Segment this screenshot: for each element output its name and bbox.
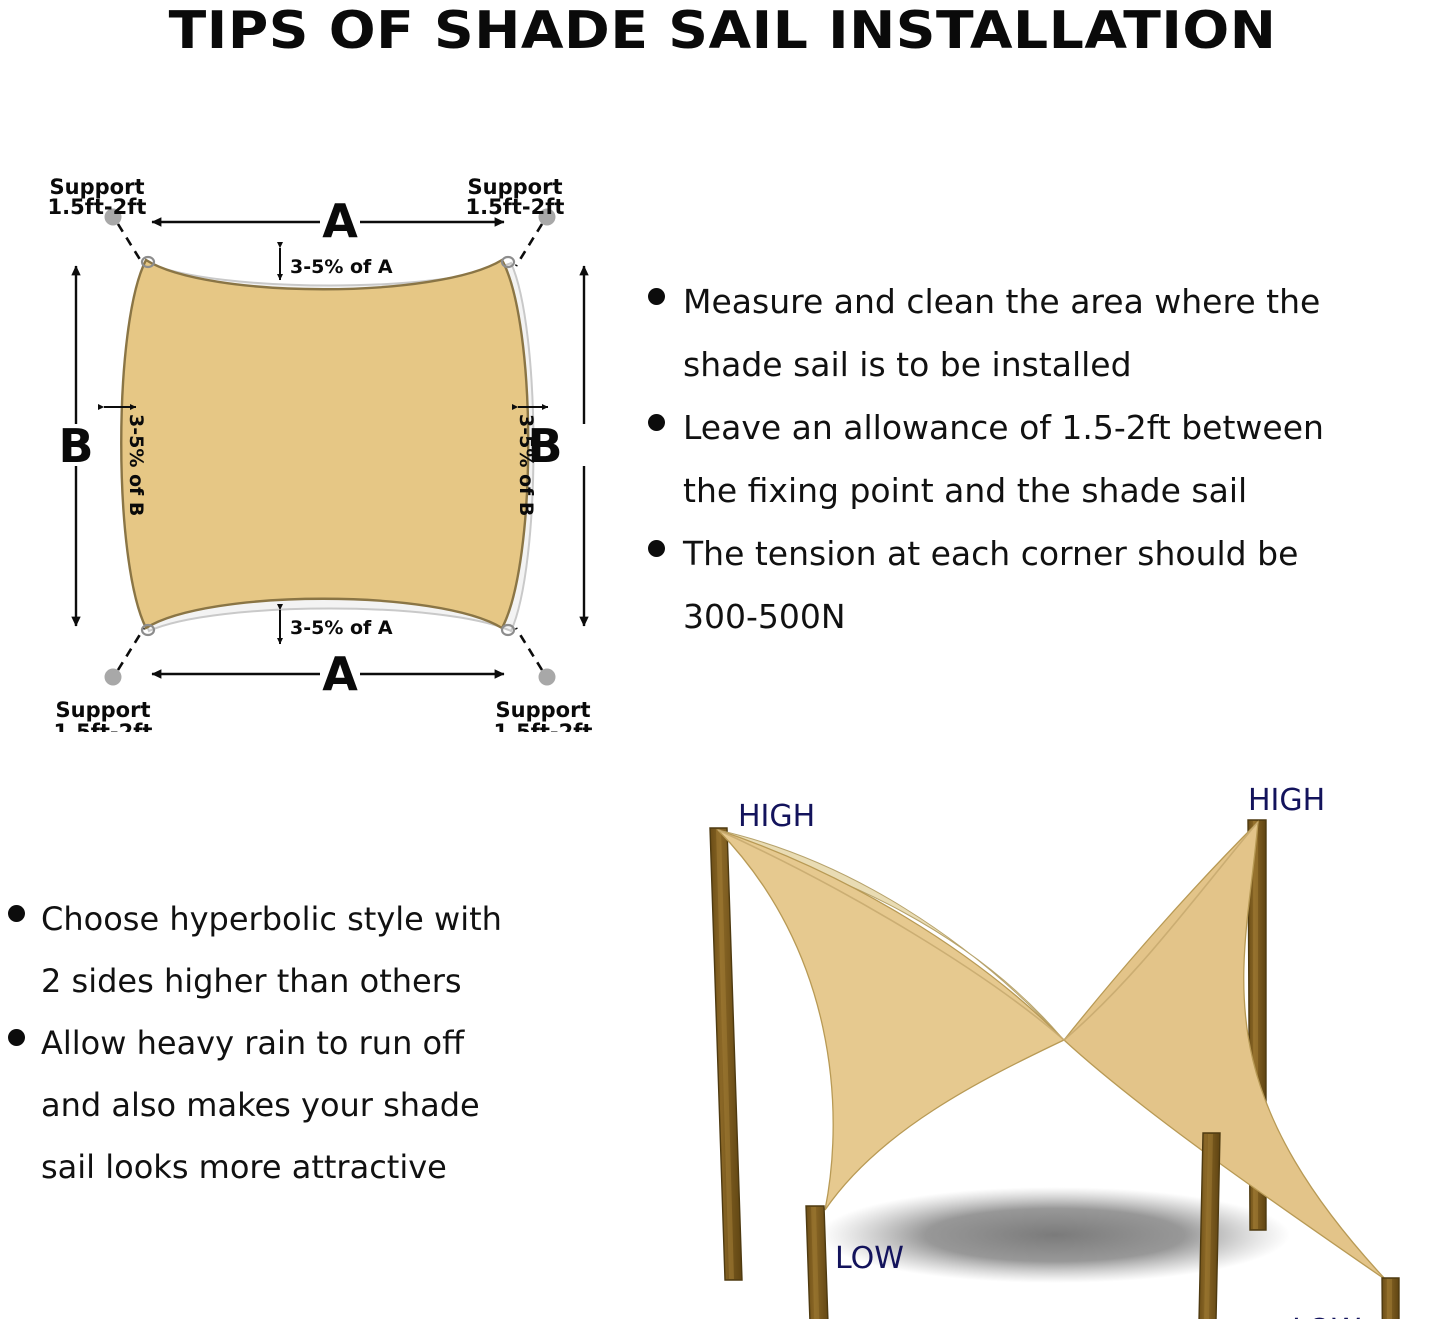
list-item: Measure and clean the area where the bbox=[648, 270, 1445, 333]
list-item-continuation: sail looks more attractive bbox=[8, 1136, 638, 1198]
tip-text: the fixing point and the shade sail bbox=[683, 459, 1247, 522]
support-dot-bottom-right bbox=[539, 669, 556, 686]
list-item: Leave an allowance of 1.5-2ft between bbox=[648, 396, 1445, 459]
label-dimension-top: A bbox=[322, 194, 358, 248]
tips-list-bottom: Choose hyperbolic style with 2 sides hig… bbox=[8, 888, 638, 1198]
list-item: Allow heavy rain to run off bbox=[8, 1012, 638, 1074]
list-item-continuation: 2 sides higher than others bbox=[8, 950, 638, 1012]
bullet-dot-icon bbox=[8, 1029, 25, 1046]
label-curvature-left: 3-5% of B bbox=[125, 414, 147, 516]
label-dimension-bottom: A bbox=[322, 647, 358, 701]
list-item-continuation: the fixing point and the shade sail bbox=[648, 459, 1445, 522]
square-sail-diagram: A 3-5% of A A 3-5% of A B bbox=[40, 162, 620, 732]
tip-text: 300-500N bbox=[683, 585, 846, 648]
tether-top-left bbox=[118, 224, 144, 266]
tip-text: and also makes your shade bbox=[41, 1074, 480, 1136]
list-item-continuation: 300-500N bbox=[648, 585, 1445, 648]
sail-body bbox=[121, 260, 528, 628]
list-item: Choose hyperbolic style with bbox=[8, 888, 638, 950]
sail-lobe-left bbox=[718, 830, 1064, 1210]
support-label-bottom-left-line1: Support bbox=[56, 698, 151, 722]
tip-text: shade sail is to be installed bbox=[683, 333, 1132, 396]
list-item: The tension at each corner should be bbox=[648, 522, 1445, 585]
label-curvature-top: 3-5% of A bbox=[290, 256, 393, 278]
bullet-dot-icon bbox=[648, 288, 665, 305]
list-item-continuation: and also makes your shade bbox=[8, 1074, 638, 1136]
bottom-section: Choose hyperbolic style with 2 sides hig… bbox=[0, 760, 1445, 1319]
top-section: A 3-5% of A A 3-5% of A B bbox=[0, 62, 1445, 752]
label-high-left: HIGH bbox=[738, 799, 815, 834]
bullet-dot-icon bbox=[648, 540, 665, 557]
list-item-continuation: shade sail is to be installed bbox=[648, 333, 1445, 396]
tip-text: Allow heavy rain to run off bbox=[41, 1012, 464, 1074]
tether-bottom-left bbox=[118, 628, 144, 670]
tether-bottom-right bbox=[516, 628, 542, 670]
label-high-right: HIGH bbox=[1248, 783, 1325, 818]
page-header: TIPS OF SHADE SAIL INSTALLATION bbox=[0, 0, 1445, 62]
tip-text: 2 sides higher than others bbox=[41, 950, 462, 1012]
tip-text: The tension at each corner should be bbox=[683, 522, 1298, 585]
tip-text: Leave an allowance of 1.5-2ft between bbox=[683, 396, 1324, 459]
pole-low-left bbox=[806, 1206, 830, 1319]
support-label-bottom-right-line1: Support bbox=[496, 698, 591, 722]
hyperbolic-sail-diagram: HIGH HIGH LOW LOW bbox=[670, 780, 1445, 1319]
pole-low-right bbox=[1382, 1278, 1399, 1319]
tip-text: Measure and clean the area where the bbox=[683, 270, 1320, 333]
tip-text: Choose hyperbolic style with bbox=[41, 888, 502, 950]
support-label-top-left-line2: 1.5ft-2ft bbox=[48, 195, 147, 219]
label-curvature-right: 3-5% of B bbox=[515, 414, 537, 516]
page-title: TIPS OF SHADE SAIL INSTALLATION bbox=[169, 5, 1277, 57]
support-dot-bottom-left bbox=[105, 669, 122, 686]
pole-support-mid-right bbox=[1198, 1133, 1220, 1319]
support-label-bottom-left-line2: 1.5ft-2ft bbox=[54, 720, 153, 732]
support-label-top-right-line2: 1.5ft-2ft bbox=[466, 195, 565, 219]
pole-high-left bbox=[710, 828, 742, 1280]
tip-text: sail looks more attractive bbox=[41, 1136, 447, 1198]
label-curvature-bottom: 3-5% of A bbox=[290, 617, 393, 639]
label-low-left: LOW bbox=[835, 1241, 904, 1276]
tips-list-top: Measure and clean the area where the sha… bbox=[648, 270, 1445, 648]
bullet-dot-icon bbox=[648, 414, 665, 431]
bullet-dot-icon bbox=[8, 905, 25, 922]
label-low-right: LOW bbox=[1292, 1313, 1361, 1319]
label-dimension-left: B bbox=[58, 419, 93, 473]
tether-top-right bbox=[516, 224, 542, 266]
support-label-bottom-right-line2: 1.5ft-2ft bbox=[494, 720, 593, 732]
